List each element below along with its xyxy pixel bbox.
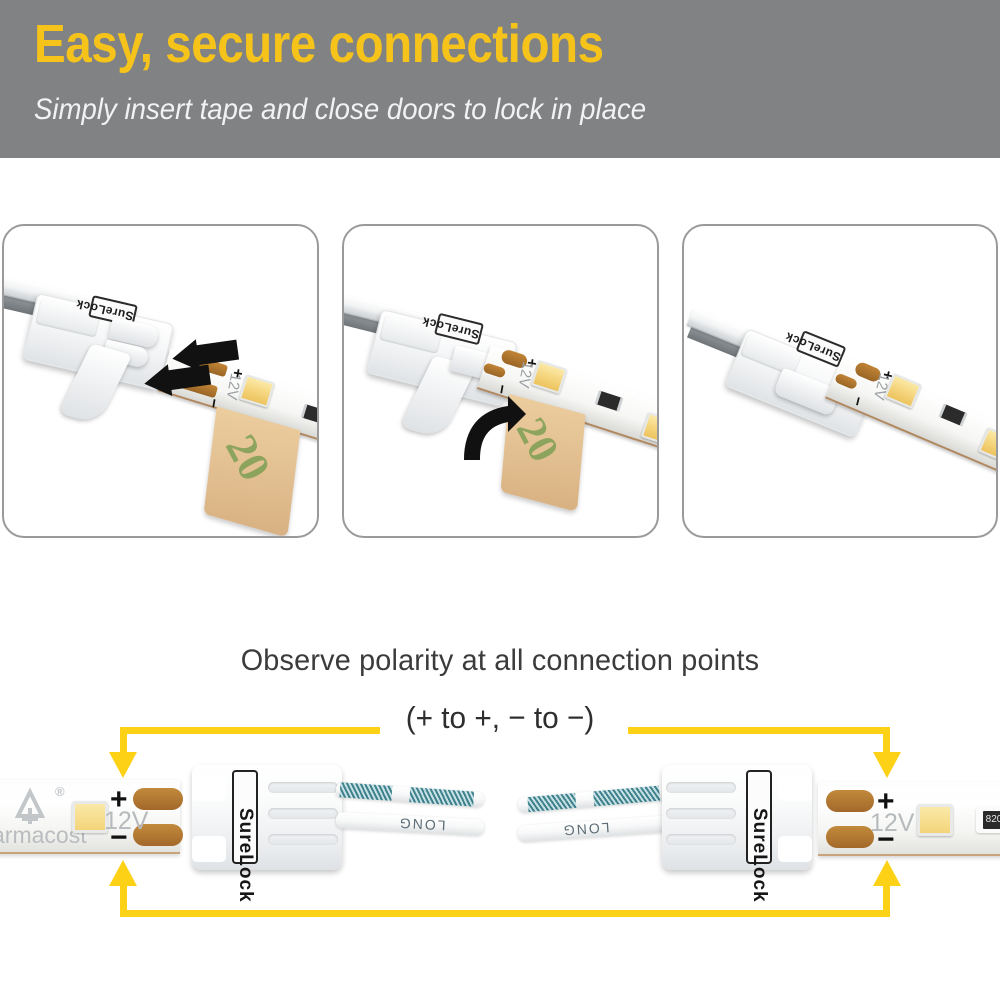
top-bracket-right-drop: [883, 727, 890, 755]
right-connector-top-notch: [778, 775, 812, 801]
right-wire-upper: [517, 785, 670, 813]
right-strip-minus-label: −: [877, 825, 895, 855]
left-connector-bottom-notch: [192, 836, 226, 862]
right-wire-upper-stripe-2: [593, 786, 660, 807]
top-left-arrow-icon: [109, 752, 137, 778]
panel-1-photo: SureLock + 12V − 20: [4, 226, 317, 536]
left-wire-upper-stripe: [339, 782, 392, 801]
step-panel-2: SureLock + 12V − 20: [342, 224, 659, 538]
right-strip-resistor-code: 820: [983, 811, 1000, 829]
step-panel-1: SureLock + 12V − 20: [2, 224, 319, 538]
top-bracket-right-line: [628, 727, 890, 734]
right-connector-slot-3: [666, 834, 736, 845]
polarity-heading: Observe polarity at all connection point…: [20, 644, 980, 678]
left-connector-slot-1: [268, 782, 338, 793]
right-strip-pad-minus: [826, 826, 874, 848]
right-strip-pad-plus: [826, 790, 874, 812]
bottom-bracket-right-rise: [883, 884, 890, 914]
step-panel-3: SureLock + 12V −: [682, 224, 998, 538]
left-wire-upper: [335, 782, 484, 807]
right-wire-lower: LONG: [517, 815, 670, 842]
bottom-bracket-line: [120, 910, 890, 917]
page-title: Easy, secure connections: [34, 16, 604, 73]
left-wire-marking: LONG: [397, 815, 445, 833]
page-subtitle: Simply insert tape and close doors to lo…: [34, 93, 646, 127]
left-connector-slot-2: [268, 808, 338, 819]
registered-mark: ®: [55, 784, 65, 799]
right-strip-led: [917, 804, 953, 836]
right-wire-upper-stripe: [527, 793, 576, 812]
panel-3-photo: SureLock + 12V −: [684, 226, 996, 536]
bottom-bracket-left-rise: [120, 884, 127, 914]
close-door-arrow: [456, 394, 528, 464]
product-infographic: Easy, secure connections Simply insert t…: [0, 0, 1000, 1000]
right-strip-resistor: 820: [976, 807, 1000, 833]
left-wire-lower: LONG: [336, 812, 485, 836]
right-connector-slot-2: [666, 808, 736, 819]
right-connector-brand-text: SureLock: [748, 808, 770, 830]
left-connector-brand-text: SureLock: [234, 808, 256, 830]
top-right-arrow-icon: [873, 752, 901, 778]
right-connector-brand-badge: SureLock: [746, 770, 772, 864]
left-strip-minus-label: −: [110, 823, 128, 853]
left-connector-top-notch: [192, 775, 226, 801]
left-strip-led: [72, 801, 108, 833]
top-bracket-left-line: [120, 727, 380, 734]
insert-arrow-lower: [144, 363, 212, 403]
left-wire-upper-stripe-2: [409, 787, 474, 806]
right-wire-marking: LONG: [561, 820, 610, 839]
right-connector-bottom-notch: [778, 836, 812, 862]
top-bracket-left-drop: [120, 727, 127, 755]
left-connector-brand-badge: SureLock: [232, 770, 258, 864]
bottom-right-arrow-icon: [873, 860, 901, 886]
bottom-left-arrow-icon: [109, 860, 137, 886]
header-banner: Easy, secure connections Simply insert t…: [0, 0, 1000, 158]
left-connector-slot-3: [268, 834, 338, 845]
panel-2-photo: SureLock + 12V − 20: [344, 226, 657, 536]
right-connector-slot-1: [666, 782, 736, 793]
